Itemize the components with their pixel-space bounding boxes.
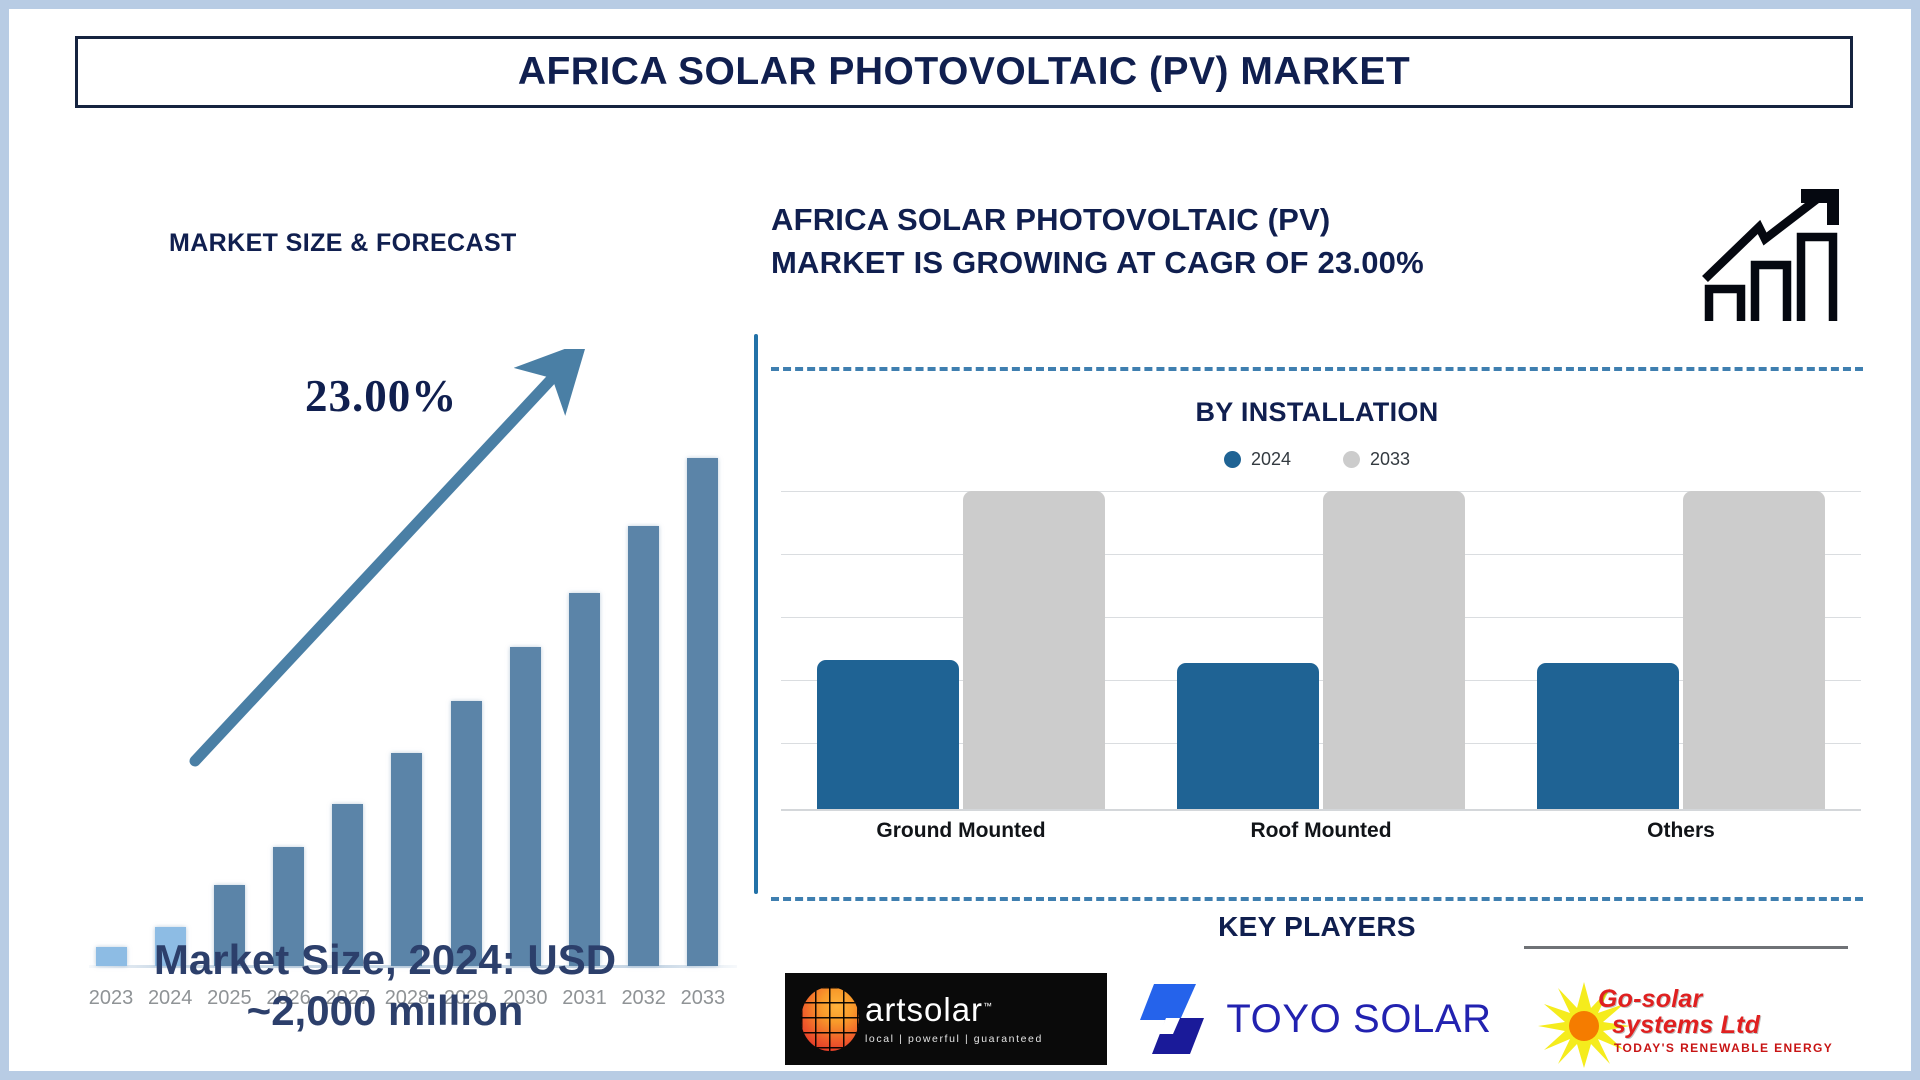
legend-label: 2033 (1370, 449, 1410, 470)
cagr-headline-line2: MARKET IS GROWING AT CAGR OF 23.00% (771, 242, 1731, 285)
divider-dashed-top (771, 367, 1863, 371)
key-players-row: artsolar™ local | powerful | guaranteed … (761, 959, 1871, 1079)
cagr-headline: AFRICA SOLAR PHOTOVOLTAIC (PV) MARKET IS… (771, 199, 1731, 285)
growth-chart-icon (1697, 181, 1849, 329)
market-size-forecast-heading: MARKET SIZE & FORECAST (169, 229, 517, 258)
legend-label: 2024 (1251, 449, 1291, 470)
artsolar-wordmark: artsolar (865, 991, 983, 1028)
gosolar-line2: systems Ltd (1612, 1012, 1836, 1038)
bar-column (683, 426, 723, 966)
market-size-value-line2: ~2,000 million (55, 985, 715, 1036)
bar-others-2024 (1537, 663, 1679, 809)
by-installation-title: BY INSTALLATION (771, 397, 1863, 428)
legend-dot-icon (1224, 451, 1241, 468)
divider-rule (1524, 946, 1848, 949)
toyo-parallelogram-icon (1140, 982, 1204, 1056)
toyo-solar-logo: TOYO SOLAR (1140, 982, 1491, 1056)
bar-2029 (451, 701, 482, 966)
bar-2032 (628, 526, 659, 966)
bar-column (209, 426, 249, 966)
market-size-forecast-panel: MARKET SIZE & FORECAST 23.00% (37, 194, 752, 1054)
divider-dashed-bottom (771, 897, 1863, 901)
bar-column (387, 426, 427, 966)
toyo-solar-wordmark: TOYO SOLAR (1226, 997, 1491, 1042)
bar-column (150, 426, 190, 966)
chart-baseline (781, 809, 1861, 811)
installation-chart-legend: 2024 2033 (771, 449, 1863, 470)
installation-category-labels: Ground Mounted Roof Mounted Others (781, 819, 1861, 843)
bar-group-roof-mounted (1171, 491, 1471, 809)
key-player-slot: Go-solar systems Ltd TODAY'S RENEWABLE E… (1501, 959, 1871, 1079)
artsolar-logo: artsolar™ local | powerful | guaranteed (785, 973, 1107, 1065)
key-players-title: KEY PLAYERS (771, 911, 1863, 943)
bar-column (91, 426, 131, 966)
infographic-page: AFRICA SOLAR PHOTOVOLTAIC (PV) MARKET MA… (0, 0, 1920, 1080)
category-label-others: Others (1531, 819, 1831, 843)
category-label-roof-mounted: Roof Mounted (1171, 819, 1471, 843)
bar-column (328, 426, 368, 966)
market-size-value-line1: Market Size, 2024: USD (55, 934, 715, 985)
artsolar-tagline: local | powerful | guaranteed (865, 1033, 1091, 1045)
bar-2030 (510, 647, 541, 966)
bar-2033 (687, 458, 718, 966)
bar-others-2033 (1683, 491, 1825, 809)
bar-column (446, 426, 486, 966)
bar-2031 (569, 593, 600, 966)
vertical-divider (754, 334, 758, 894)
gosolar-tagline: TODAY'S RENEWABLE ENERGY (1614, 1041, 1836, 1055)
bar-group-others (1531, 491, 1831, 809)
right-panel: AFRICA SOLAR PHOTOVOLTAIC (PV) MARKET IS… (761, 169, 1871, 1059)
cagr-headline-line1: AFRICA SOLAR PHOTOVOLTAIC (PV) (771, 199, 1731, 242)
bar-column (624, 426, 664, 966)
key-player-slot: TOYO SOLAR (1131, 959, 1501, 1079)
gosolar-logo: Go-solar systems Ltd TODAY'S RENEWABLE E… (1524, 970, 1848, 1068)
bar-groups (781, 491, 1861, 809)
legend-item-2024: 2024 (1224, 449, 1291, 470)
bar-roof-mounted-2024 (1177, 663, 1319, 809)
gosolar-line1: Go-solar (1598, 986, 1836, 1012)
bar-roof-mounted-2033 (1323, 491, 1465, 809)
bar-ground-mounted-2024 (817, 660, 959, 809)
by-installation-bar-chart (781, 491, 1861, 809)
page-title: AFRICA SOLAR PHOTOVOLTAIC (PV) MARKET (518, 50, 1410, 94)
solar-panel-circle-icon (801, 987, 859, 1051)
bar-track (67, 426, 747, 966)
bar-group-ground-mounted (811, 491, 1111, 809)
bar-column (269, 426, 309, 966)
category-label-ground-mounted: Ground Mounted (811, 819, 1111, 843)
page-title-box: AFRICA SOLAR PHOTOVOLTAIC (PV) MARKET (75, 36, 1853, 108)
legend-item-2033: 2033 (1343, 449, 1410, 470)
artsolar-text: artsolar™ local | powerful | guaranteed (865, 993, 1091, 1045)
market-size-value: Market Size, 2024: USD ~2,000 million (55, 934, 715, 1036)
legend-dot-icon (1343, 451, 1360, 468)
trademark-icon: ™ (983, 1001, 993, 1011)
bar-column (505, 426, 545, 966)
bar-ground-mounted-2033 (963, 491, 1105, 809)
bar-column (565, 426, 605, 966)
key-player-slot: artsolar™ local | powerful | guaranteed (761, 959, 1131, 1079)
